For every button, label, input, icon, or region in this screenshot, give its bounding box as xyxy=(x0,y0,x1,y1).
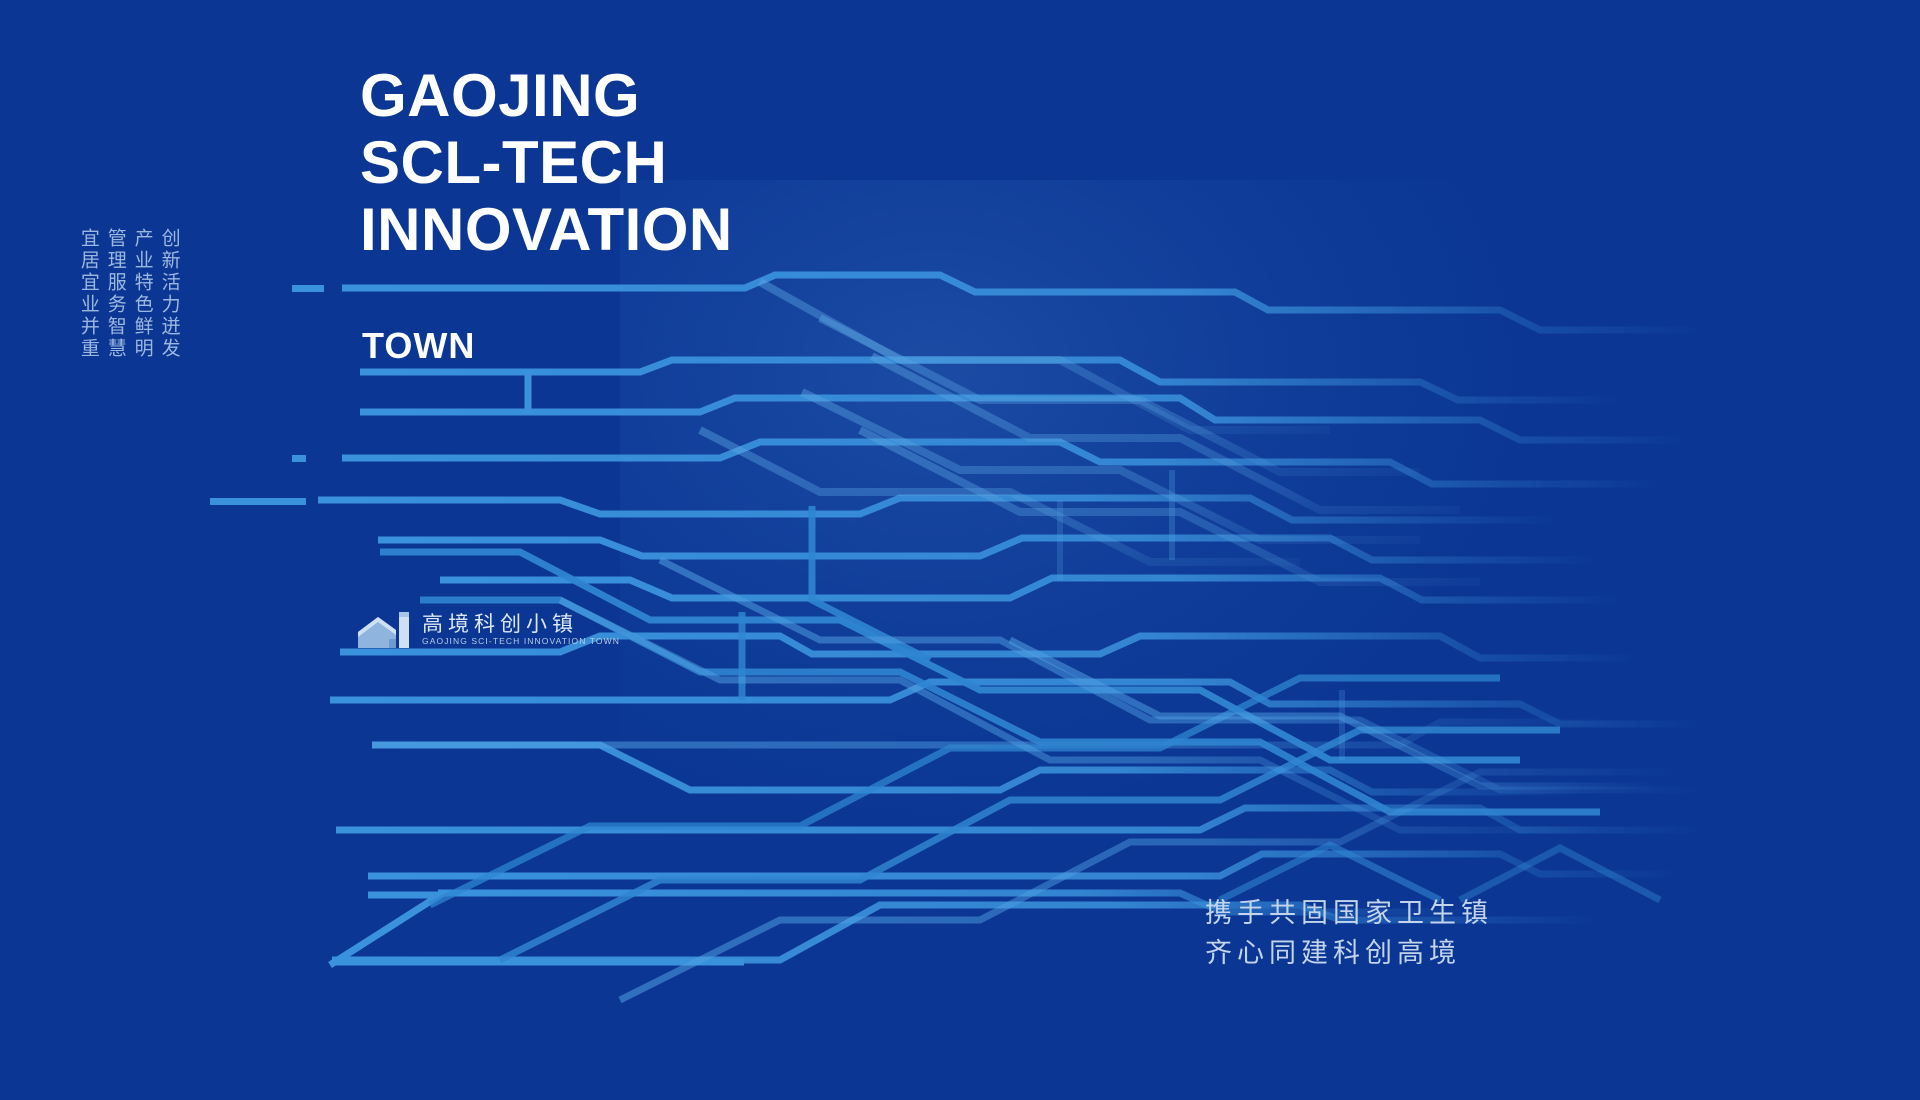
poster-canvas: GAOJING SCL-TECH INNOVATION TOWN 创新活力迸发 … xyxy=(0,0,1920,1100)
bottom-slogan-line-2: 齐心同建科创高境 xyxy=(1205,937,1493,971)
logo-english-name: GAOJING SCI-TECH INNOVATION TOWN xyxy=(422,637,620,646)
page-title: GAOJING SCL-TECH INNOVATION xyxy=(360,62,1120,264)
vertical-slogan-column-2: 产业特色鲜明 xyxy=(132,228,153,360)
headline-line-1: GAOJING xyxy=(360,62,1120,129)
vertical-slogan-column-3: 管理服务智慧 xyxy=(105,228,126,360)
house-building-icon xyxy=(356,608,412,652)
bottom-slogan: 携手共固国家卫生镇 齐心同建科创高境 xyxy=(1205,897,1493,971)
vertical-slogan-column-4: 宜居宜业并重 xyxy=(78,228,99,360)
headline-line-2: SCL-TECH xyxy=(360,129,1120,196)
vertical-slogan: 创新活力迸发 产业特色鲜明 管理服务智慧 宜居宜业并重 xyxy=(78,228,180,360)
headline-line-4: TOWN xyxy=(362,325,475,367)
bottom-slogan-line-1: 携手共固国家卫生镇 xyxy=(1205,897,1493,931)
logo-chinese-name: 高境科创小镇 xyxy=(422,614,620,635)
logo-text: 高境科创小镇 GAOJING SCI-TECH INNOVATION TOWN xyxy=(422,614,620,646)
headline-line-3: INNOVATION xyxy=(360,196,1120,263)
brand-logo: 高境科创小镇 GAOJING SCI-TECH INNOVATION TOWN xyxy=(356,608,620,652)
vertical-slogan-column-1: 创新活力迸发 xyxy=(159,228,180,360)
